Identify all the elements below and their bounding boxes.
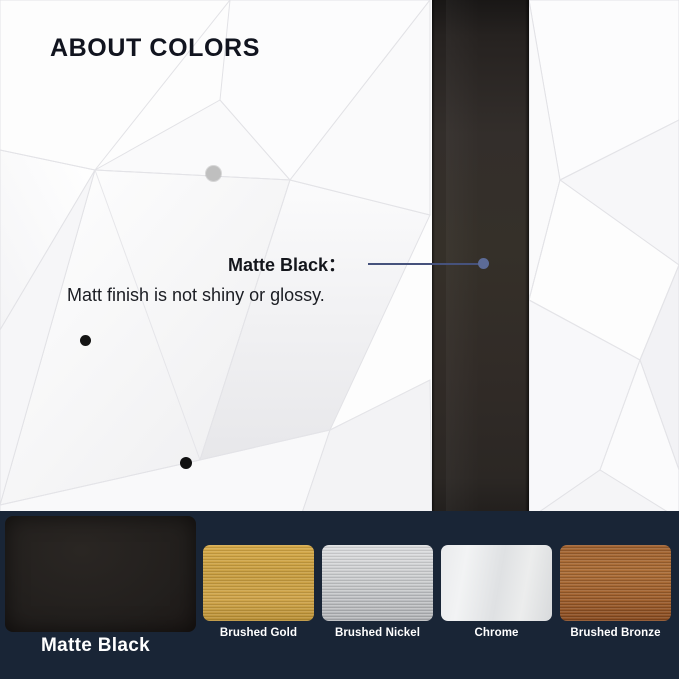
swatch-label-brushed-bronze: Brushed Bronze [560, 627, 671, 639]
about-colors-infographic: ABOUT COLORS Matte Black： Matt finish is… [0, 0, 679, 679]
decor-dot-gray [206, 166, 221, 181]
bar-left-edge-shadow [432, 0, 435, 519]
swatch-label-matte-black: Matte Black [0, 635, 191, 657]
color-swatch-panel: Matte Black Brushed Gold Brushed Nickel … [0, 511, 679, 679]
swatch-chip-brushed-gold [203, 545, 314, 621]
callout-description: Matt finish is not shiny or glossy. [67, 285, 325, 306]
callout-leader-dot [478, 258, 489, 269]
swatch-chip-brushed-nickel [322, 545, 433, 621]
swatch-option-matte-black[interactable] [5, 516, 196, 632]
swatch-label-brushed-nickel: Brushed Nickel [322, 627, 433, 639]
decor-dot-dark-lower [180, 457, 192, 469]
swatch-chip-matte-black [5, 516, 196, 632]
callout-leader-line [368, 263, 483, 265]
page-title: ABOUT COLORS [50, 34, 260, 63]
swatch-label-chrome: Chrome [441, 627, 552, 639]
swatch-label-brushed-gold: Brushed Gold [203, 627, 314, 639]
decor-dot-dark-upper [80, 335, 91, 346]
bar-sheen-highlight [446, 0, 480, 519]
swatch-chip-chrome [441, 545, 552, 621]
callout-title: Matte Black： [228, 251, 346, 277]
swatch-chip-brushed-bronze [560, 545, 671, 621]
bar-right-edge-shadow [525, 0, 529, 519]
